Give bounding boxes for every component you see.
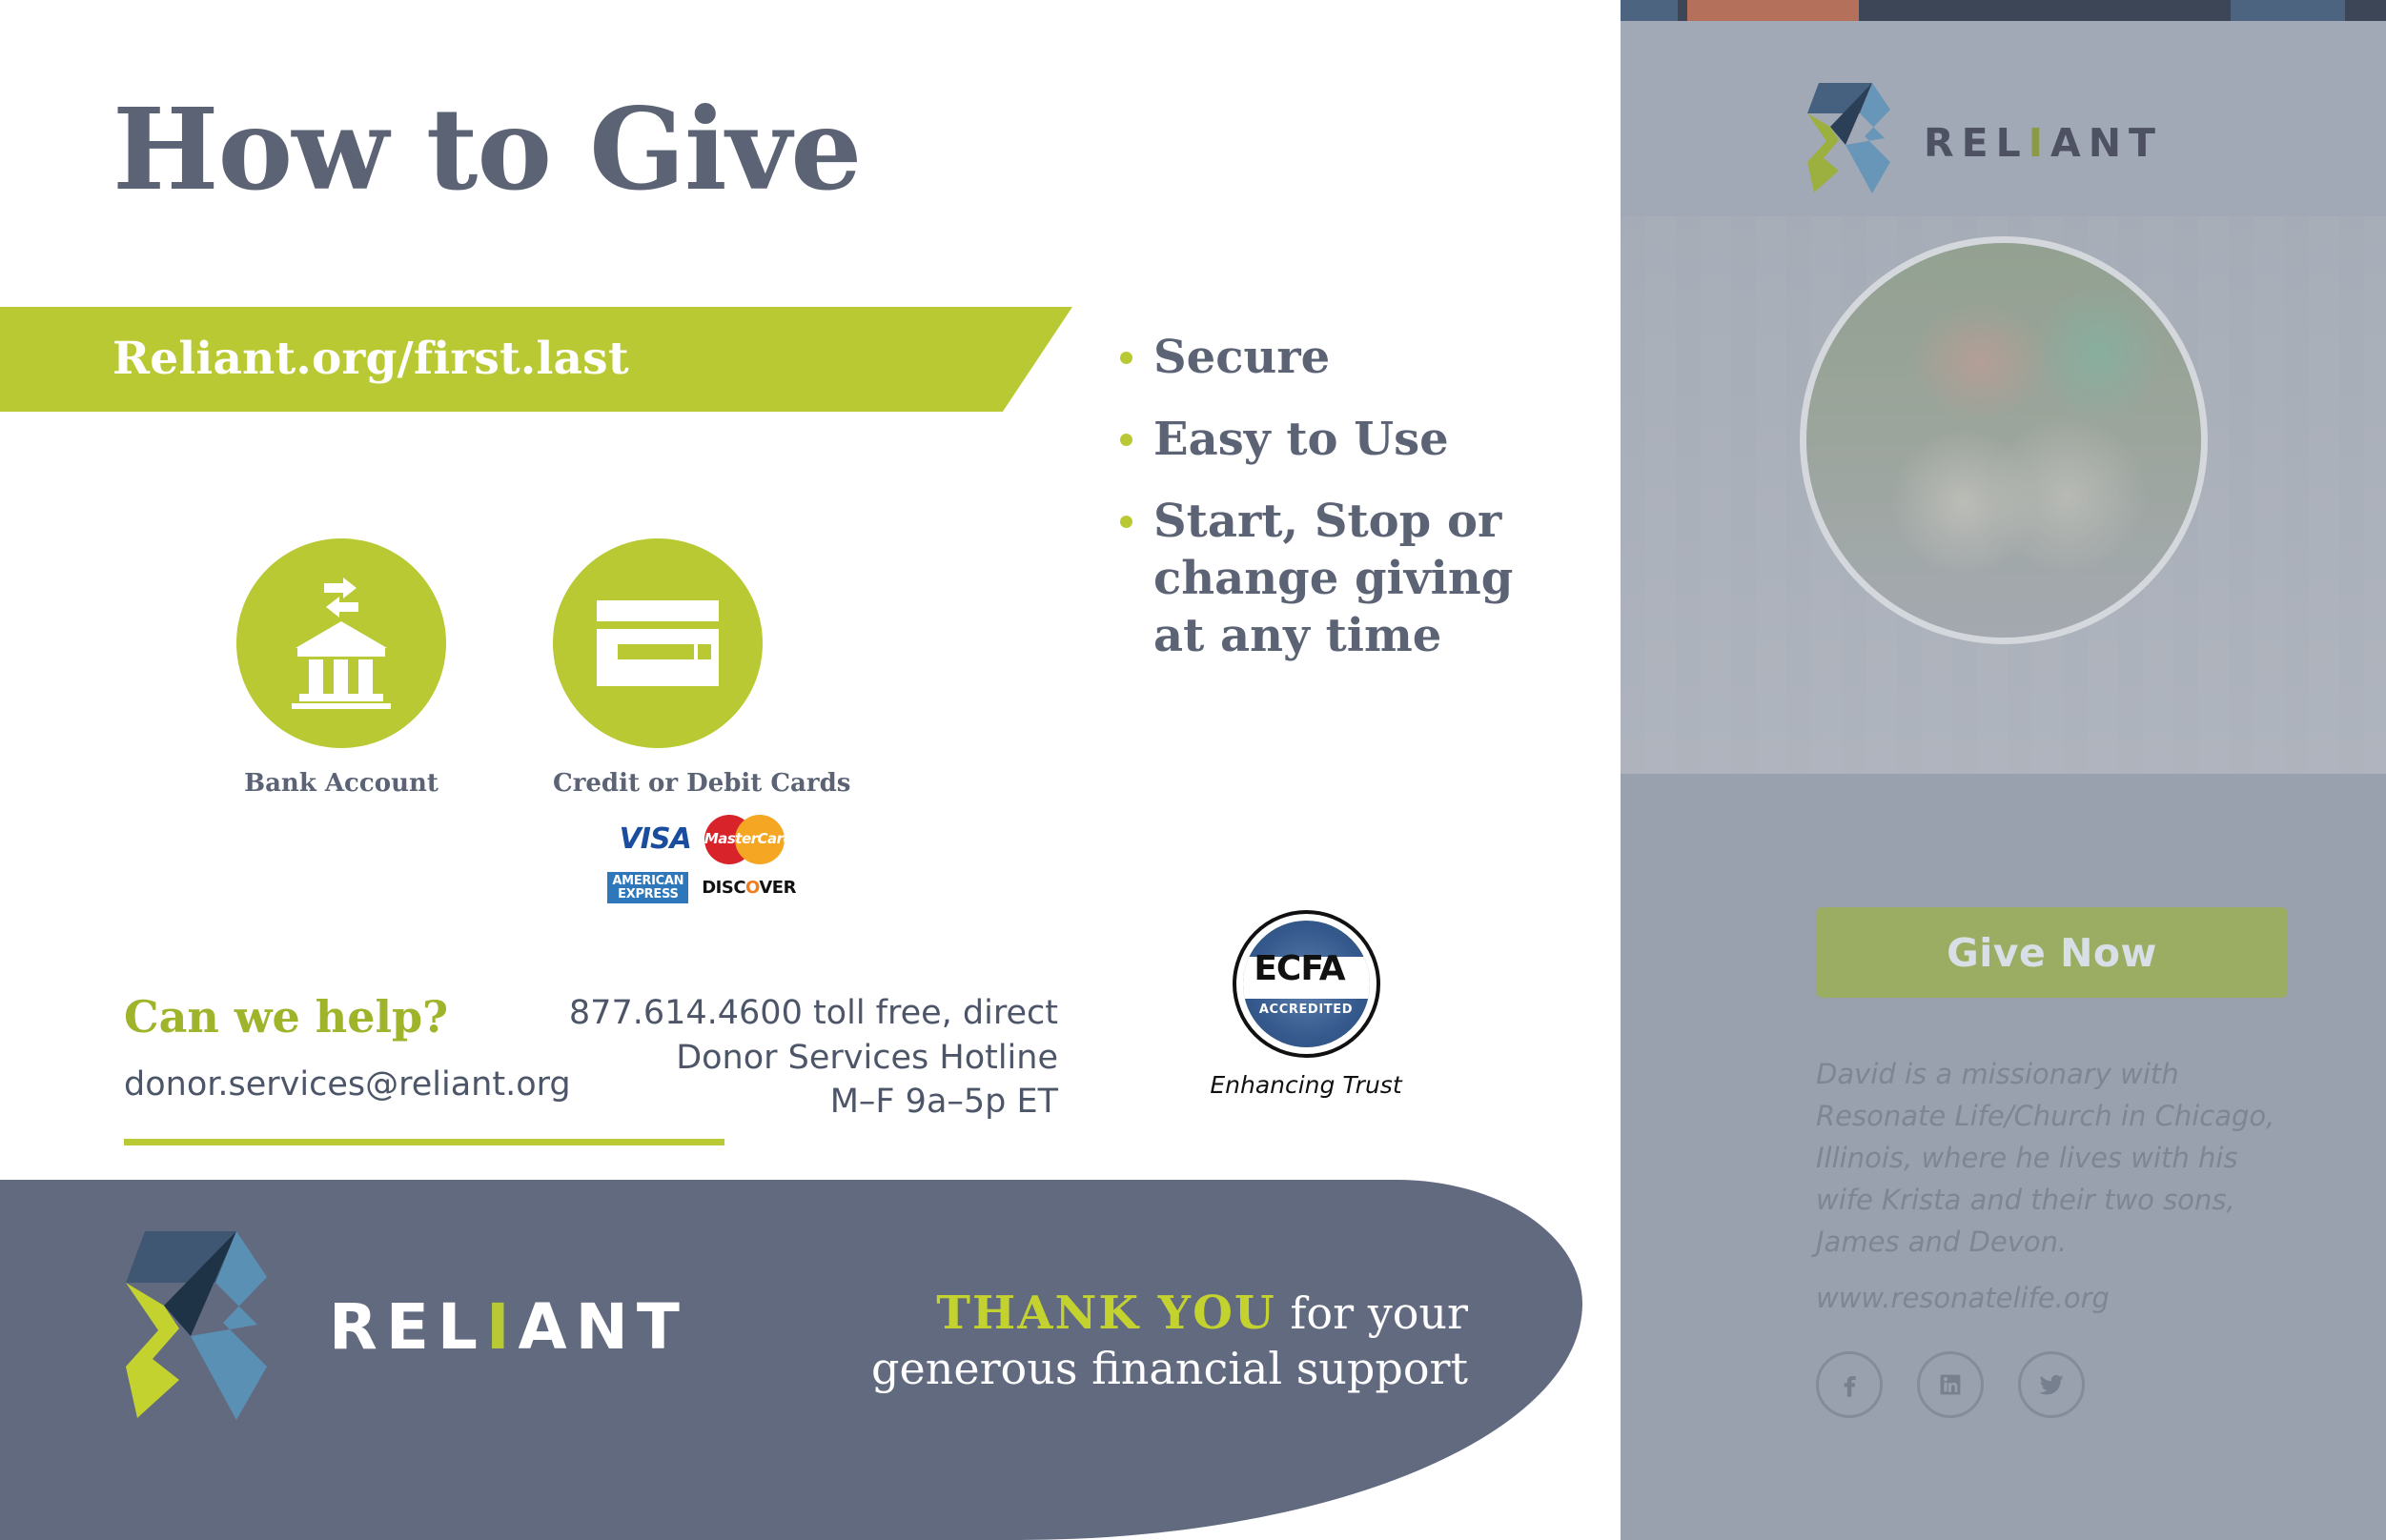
help-divider	[124, 1139, 724, 1145]
ecfa-name: ECFA	[1236, 952, 1363, 986]
preview-give-now-button[interactable]: Give Now	[1816, 907, 2288, 998]
reliant-logo-icon	[124, 1224, 286, 1424]
credit-card-icon	[595, 598, 721, 688]
thank-you-emphasis: THANK YOU	[936, 1287, 1276, 1340]
payment-method-bank: Bank Account	[236, 538, 446, 798]
facebook-icon[interactable]	[1816, 1351, 1883, 1418]
giving-url: Reliant.org/first.last	[112, 333, 629, 385]
help-phone: 877.614.4600 toll free, direct	[569, 991, 1058, 1036]
preview-website-link[interactable]: www.resonatelife.org	[1816, 1282, 2110, 1314]
ecfa-badge: ACCREDITED ECFA Enhancing Trust	[1201, 910, 1411, 1099]
ecfa-tagline: Enhancing Trust	[1201, 1071, 1411, 1099]
visa-icon: VISA	[620, 825, 691, 854]
benefit-label: Easy to Use	[1153, 411, 1449, 468]
help-contact-details: 877.614.4600 toll free, direct Donor Ser…	[569, 991, 1058, 1125]
help-hotline: Donor Services Hotline	[569, 1036, 1058, 1081]
thank-you-rest: for your	[1276, 1287, 1468, 1339]
payment-method-cards: Credit or Debit Cards VISA MasterCard AM…	[553, 538, 850, 911]
preview-navbar-active-item	[1687, 0, 1859, 21]
website-preview: RELIANT Give Now David is a missionary w…	[1621, 0, 2386, 1540]
bullet-dot-icon	[1120, 516, 1132, 528]
bullet-dot-icon	[1120, 352, 1132, 364]
card-front: How to Give Reliant.org/first.last Secur…	[0, 0, 1621, 1540]
preview-reliant-wordmark: RELIANT	[1924, 120, 2163, 166]
payment-method-label: Credit or Debit Cards	[553, 769, 850, 798]
credit-card-icon-circle	[553, 538, 763, 748]
reliant-wordmark: RELIANT	[329, 1290, 688, 1364]
ecfa-seal-icon: ACCREDITED ECFA	[1233, 910, 1380, 1058]
mastercard-icon: MasterCard	[704, 815, 785, 864]
card-footer: RELIANT THANK YOU for your generous fina…	[0, 1180, 1582, 1540]
brand-row-1: VISA MasterCard	[587, 815, 816, 864]
benefit-label: Start, Stop or change giving at any time	[1153, 493, 1520, 664]
list-item: Secure	[1120, 329, 1520, 386]
linkedin-icon[interactable]	[1917, 1351, 1984, 1418]
page-title: How to Give	[112, 93, 861, 206]
bank-icon	[278, 577, 404, 709]
thank-you-line2: generous financial support	[871, 1343, 1468, 1394]
benefit-label: Secure	[1153, 329, 1330, 386]
thank-you-message: THANK YOU for your generous financial su…	[782, 1285, 1468, 1397]
payment-method-label: Bank Account	[236, 769, 446, 798]
bank-icon-circle	[236, 538, 446, 748]
discover-icon: DISCOVER	[702, 878, 796, 898]
donor-services-email[interactable]: donor.services@reliant.org	[124, 1065, 571, 1104]
brand-row-2: AMERICANEXPRESS DISCOVER	[587, 872, 816, 903]
preview-missionary-bio: David is a missionary with Resonate Life…	[1816, 1053, 2302, 1263]
benefits-list: Secure Easy to Use Start, Stop or change…	[1120, 329, 1520, 689]
help-hours: M–F 9a–5p ET	[569, 1080, 1058, 1125]
list-item: Start, Stop or change giving at any time	[1120, 493, 1520, 664]
accepted-card-brands: VISA MasterCard AMERICANEXPRESS DISCOVER	[587, 815, 816, 903]
list-item: Easy to Use	[1120, 411, 1520, 468]
preview-reliant-logo-icon	[1806, 78, 1902, 196]
help-title: Can we help?	[124, 991, 448, 1043]
bullet-dot-icon	[1120, 434, 1132, 446]
preview-missionary-photo	[1800, 236, 2208, 644]
preview-social-links	[1816, 1351, 2085, 1418]
how-to-give-card: How to Give Reliant.org/first.last Secur…	[0, 0, 2386, 1540]
ecfa-status: ACCREDITED	[1243, 1003, 1370, 1017]
twitter-icon[interactable]	[2018, 1351, 2085, 1418]
preview-navbar	[1621, 0, 2386, 21]
mastercard-label: MasterCard	[704, 830, 785, 847]
amex-icon: AMERICANEXPRESS	[607, 872, 688, 903]
give-now-label: Give Now	[1947, 930, 2157, 976]
